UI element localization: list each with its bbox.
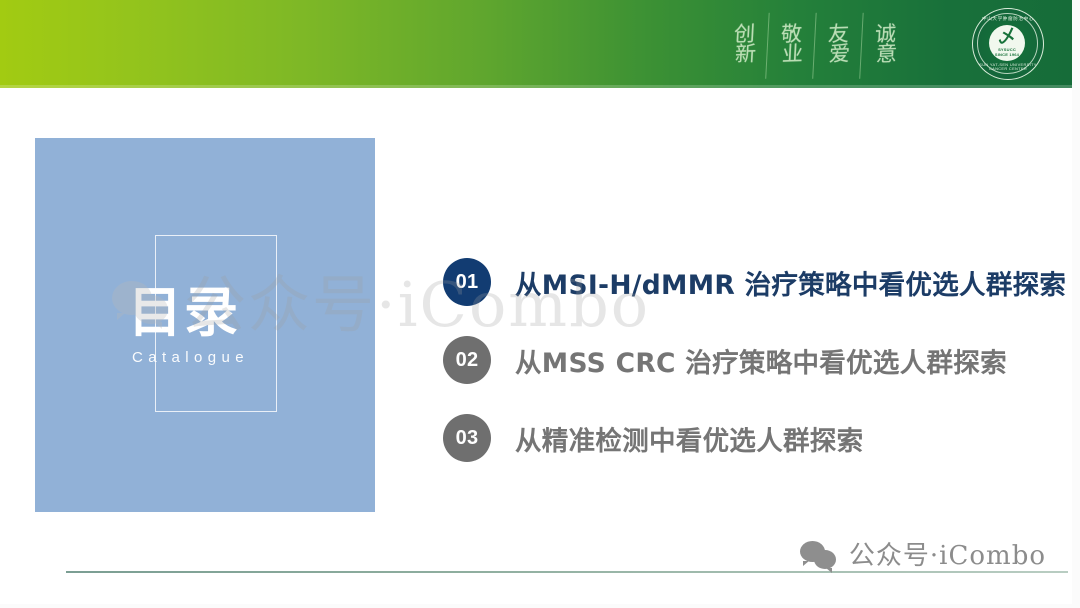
seal-english-ring-text: SUN YAT-SEN UNIVERSITY CANCER CENTER bbox=[973, 63, 1043, 71]
page-title: 目录 bbox=[128, 286, 240, 340]
agenda-label-01: 从MSI-H/dMMR 治疗策略中看优选人群探索 bbox=[515, 263, 1066, 302]
seal-center-mark: 乄 bbox=[999, 29, 1016, 46]
agenda-item-03[interactable]: 03 从精准检测中看优选人群探索 bbox=[443, 414, 1073, 462]
slide-edge-bottom bbox=[0, 604, 1080, 608]
wechat-icon bbox=[800, 540, 840, 572]
motto-char: 业 bbox=[781, 44, 803, 66]
motto-column-4: 诚 意 bbox=[859, 11, 910, 79]
agenda-list: 01 从MSI-H/dMMR 治疗策略中看优选人群探索 02 从MSS CRC … bbox=[443, 258, 1073, 492]
slide-edge-right bbox=[1072, 0, 1080, 608]
agenda-label-03: 从精准检测中看优选人群探索 bbox=[515, 419, 863, 458]
agenda-badge-03: 03 bbox=[443, 414, 491, 462]
motto-char: 爱 bbox=[828, 44, 850, 66]
motto-column-2: 敬 业 bbox=[765, 11, 816, 79]
motto-char: 新 bbox=[734, 44, 756, 66]
header-banner: 创 新 敬 业 友 爱 诚 意 中山大学肿瘤防治中心 SUN YAT-SEN U… bbox=[0, 0, 1080, 88]
agenda-badge-02: 02 bbox=[443, 336, 491, 384]
agenda-item-02[interactable]: 02 从MSS CRC 治疗策略中看优选人群探索 bbox=[443, 336, 1073, 384]
motto-char: 意 bbox=[875, 44, 897, 66]
agenda-badge-01: 01 bbox=[443, 258, 491, 306]
seal-abbr-line-2: SINCE 1964 bbox=[995, 52, 1019, 57]
page-subtitle: Catalogue bbox=[132, 350, 249, 365]
agenda-label-02: 从MSS CRC 治疗策略中看优选人群探索 bbox=[515, 341, 1007, 380]
catalogue-panel: 目录 Catalogue bbox=[35, 138, 375, 512]
university-seal-icon: 中山大学肿瘤防治中心 SUN YAT-SEN UNIVERSITY CANCER… bbox=[972, 8, 1044, 80]
slide-canvas: 创 新 敬 业 友 爱 诚 意 中山大学肿瘤防治中心 SUN YAT-SEN U… bbox=[0, 0, 1080, 608]
motto-column-3: 友 爱 bbox=[812, 11, 863, 79]
footer-brand-text: 公众号·iCombo bbox=[849, 543, 1046, 569]
seal-chinese-ring-text: 中山大学肿瘤防治中心 bbox=[973, 17, 1043, 22]
wechat-bubble-small bbox=[814, 550, 836, 569]
footer-brand: 公众号·iCombo bbox=[800, 540, 1046, 572]
seal-core: 乄 SYSUCC SINCE 1964 bbox=[989, 25, 1025, 61]
calligraphy-motto: 创 新 敬 业 友 爱 诚 意 bbox=[721, 8, 908, 82]
agenda-item-01[interactable]: 01 从MSI-H/dMMR 治疗策略中看优选人群探索 bbox=[443, 258, 1073, 306]
motto-column-1: 创 新 bbox=[719, 11, 769, 79]
